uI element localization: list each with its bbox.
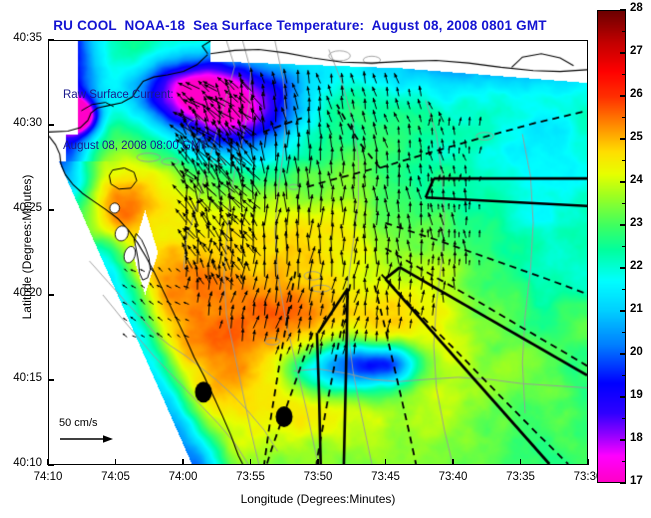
x-tick-label: 73:40 bbox=[423, 471, 483, 483]
x-tick-label: 73:55 bbox=[221, 471, 281, 483]
y-axis-title: Latitude (Degrees:Minutes) bbox=[20, 127, 34, 367]
x-tick-mark bbox=[317, 459, 319, 465]
colorbar-minor-tick bbox=[622, 31, 626, 32]
y-tick-label: 40:35 bbox=[0, 32, 42, 44]
x-tick-mark bbox=[115, 459, 117, 465]
colorbar-minor-tick bbox=[622, 289, 626, 290]
x-tick-label: 73:50 bbox=[288, 471, 348, 483]
x-tick-mark bbox=[587, 459, 589, 465]
map-plot-area[interactable]: Raw Surface Current: August 08, 2008 08:… bbox=[48, 40, 588, 465]
velocity-scale-bar: 50 cm/s bbox=[59, 417, 115, 450]
colorbar-minor-tick bbox=[622, 117, 626, 118]
colorbar-minor-tick bbox=[622, 354, 626, 355]
x-tick-mark bbox=[452, 459, 454, 465]
colorbar-minor-tick bbox=[622, 246, 626, 247]
colorbar-tick-label: 27 bbox=[630, 45, 643, 57]
colorbar-minor-tick bbox=[622, 440, 626, 441]
colorbar-tick-label: 18 bbox=[630, 432, 643, 444]
colorbar-minor-tick bbox=[622, 418, 626, 419]
y-tick-mark bbox=[48, 209, 54, 211]
x-tick-mark bbox=[385, 459, 387, 465]
colorbar-minor-tick bbox=[622, 160, 626, 161]
x-tick-label: 73:45 bbox=[356, 471, 416, 483]
y-tick-mark bbox=[48, 124, 54, 126]
colorbar-minor-tick bbox=[622, 332, 626, 333]
y-tick-mark bbox=[48, 379, 54, 381]
colorbar-minor-tick bbox=[622, 10, 626, 11]
y-tick-mark bbox=[48, 464, 54, 466]
colorbar-minor-tick bbox=[622, 311, 626, 312]
colorbar-minor-tick bbox=[622, 268, 626, 269]
colorbar-tick-label: 19 bbox=[630, 389, 643, 401]
colorbar-minor-tick bbox=[622, 483, 626, 484]
x-tick-mark bbox=[250, 459, 252, 465]
current-annotation-line1: Raw Surface Current: bbox=[63, 87, 207, 104]
arrow-right-icon bbox=[59, 432, 115, 450]
x-tick-label: 74:10 bbox=[18, 471, 78, 483]
colorbar-minor-tick bbox=[622, 397, 626, 398]
colorbar-minor-tick bbox=[622, 182, 626, 183]
colorbar-tick-label: 17 bbox=[630, 475, 643, 487]
colorbar-minor-tick bbox=[622, 203, 626, 204]
colorbar-minor-tick bbox=[622, 461, 626, 462]
colorbar-tick-label: 22 bbox=[630, 260, 643, 272]
y-tick-label: 40:10 bbox=[0, 457, 42, 469]
y-tick-mark bbox=[48, 294, 54, 296]
colorbar-tick-label: 20 bbox=[630, 346, 643, 358]
colorbar-tick-label: 25 bbox=[630, 131, 643, 143]
colorbar-tick-label: 24 bbox=[630, 174, 643, 186]
velocity-scale-label: 50 cm/s bbox=[59, 417, 115, 429]
x-tick-label: 74:05 bbox=[86, 471, 146, 483]
figure-title: RU COOL NOAA-18 Sea Surface Temperature:… bbox=[0, 18, 600, 33]
colorbar-minor-tick bbox=[622, 53, 626, 54]
x-axis-title: Longitude (Degrees:Minutes) bbox=[48, 492, 588, 506]
y-tick-mark bbox=[48, 39, 54, 41]
colorbar-minor-tick bbox=[622, 225, 626, 226]
x-tick-mark bbox=[182, 459, 184, 465]
y-tick-label: 40:15 bbox=[0, 372, 42, 384]
x-tick-mark bbox=[520, 459, 522, 465]
colorbar-tick-label: 21 bbox=[630, 303, 643, 315]
current-annotation-line2: August 08, 2008 08:00 GMT bbox=[63, 138, 207, 155]
colorbar-tick-label: 26 bbox=[630, 88, 643, 100]
x-tick-label: 73:35 bbox=[491, 471, 551, 483]
x-tick-label: 74:00 bbox=[153, 471, 213, 483]
colorbar-tick-label: 23 bbox=[630, 217, 643, 229]
colorbar-minor-tick bbox=[622, 139, 626, 140]
colorbar-minor-tick bbox=[622, 96, 626, 97]
figure-root: RU COOL NOAA-18 Sea Surface Temperature:… bbox=[0, 0, 651, 518]
colorbar-tick-label: 28 bbox=[630, 2, 643, 14]
colorbar-minor-tick bbox=[622, 74, 626, 75]
colorbar-minor-tick bbox=[622, 375, 626, 376]
current-annotation: Raw Surface Current: August 08, 2008 08:… bbox=[63, 53, 207, 189]
